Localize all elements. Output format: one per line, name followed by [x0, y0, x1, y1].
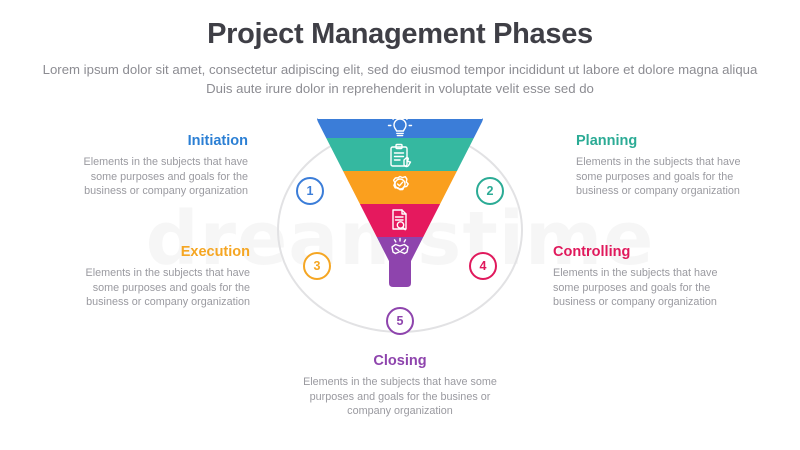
step-badge-1-label: 1 — [307, 184, 314, 198]
step-badge-4-label: 4 — [480, 259, 487, 273]
funnel-band-5 — [255, 237, 545, 307]
phase-block-planning: Planning Elements in the subjects that h… — [576, 132, 764, 199]
phase-block-controlling: Controlling Elements in the subjects tha… — [553, 243, 741, 310]
phase-title-execution: Execution — [62, 243, 250, 261]
phase-block-initiation: Initiation Elements in the subjects that… — [60, 132, 248, 199]
phase-desc-initiation: Elements in the subjects that have some … — [60, 155, 248, 199]
header: Project Management Phases Lorem ipsum do… — [0, 16, 800, 98]
phase-desc-planning: Elements in the subjects that have some … — [576, 155, 764, 199]
phase-title-controlling: Controlling — [553, 243, 741, 261]
phase-desc-closing: Elements in the subjects that have some … — [290, 375, 510, 419]
step-badge-5-label: 5 — [397, 314, 404, 328]
phase-block-closing: Closing Elements in the subjects that ha… — [290, 352, 510, 419]
phase-title-initiation: Initiation — [60, 132, 248, 150]
step-badge-3-label: 3 — [314, 259, 321, 273]
step-badge-2-label: 2 — [487, 184, 494, 198]
funnel-diagram: 1 2 3 4 5 — [255, 105, 545, 355]
step-badge-5[interactable]: 5 — [386, 307, 414, 335]
step-badge-2[interactable]: 2 — [476, 177, 504, 205]
phase-block-execution: Execution Elements in the subjects that … — [62, 243, 250, 310]
phase-title-planning: Planning — [576, 132, 764, 150]
step-badge-3[interactable]: 3 — [303, 252, 331, 280]
page-subtitle: Lorem ipsum dolor sit amet, consectetur … — [30, 60, 770, 98]
phase-title-closing: Closing — [290, 352, 510, 370]
page-title: Project Management Phases — [0, 16, 800, 52]
phase-desc-execution: Elements in the subjects that have some … — [62, 266, 250, 310]
phase-desc-controlling: Elements in the subjects that have some … — [553, 266, 741, 310]
step-badge-1[interactable]: 1 — [296, 177, 324, 205]
step-badge-4[interactable]: 4 — [469, 252, 497, 280]
